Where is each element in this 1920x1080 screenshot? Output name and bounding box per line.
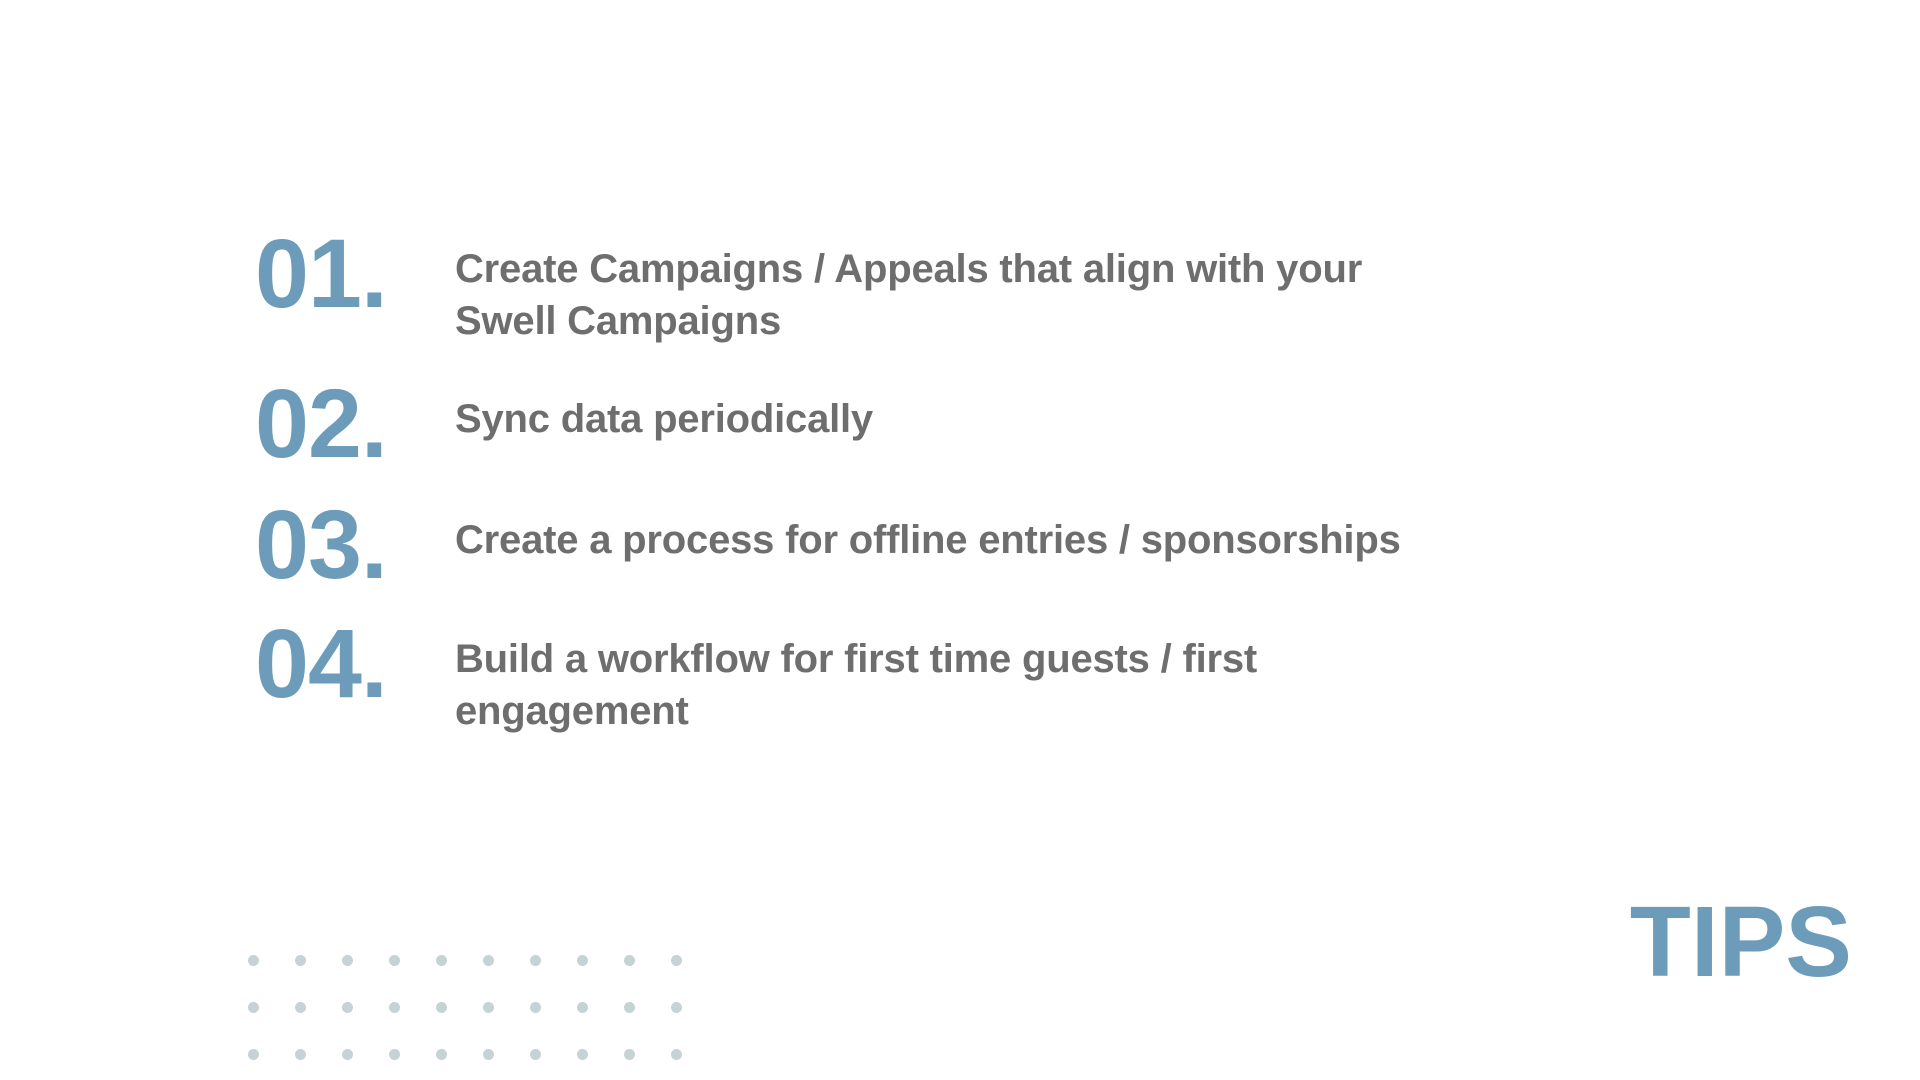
tip-text-04: Build a workflow for first time guests /… [455,615,1465,737]
dot-grid-dot [624,1049,635,1060]
tip-number-02: 02. [255,375,455,472]
dot-grid-dot [295,1002,306,1013]
dot-grid-dot [436,955,447,966]
dot-grid-dot [342,1049,353,1060]
footer-tips-label: TIPS [1630,892,1852,992]
list-item: 02. Sync data periodically [255,375,1705,472]
dot-grid-dot [389,955,400,966]
dot-grid-dot [671,1002,682,1013]
dot-grid-dot [342,955,353,966]
dot-grid-dot [530,1002,541,1013]
dot-grid-dot [483,1049,494,1060]
tip-text-02: Sync data periodically [455,375,1635,445]
dot-grid-dot [436,1002,447,1013]
tip-text-03: Create a process for offline entries / s… [455,496,1635,566]
dot-grid-dot [577,1049,588,1060]
tip-number-03: 03. [255,496,455,593]
tips-list: 01. Create Campaigns / Appeals that alig… [255,225,1705,737]
dot-grid-dot [436,1049,447,1060]
dot-grid-dot [624,955,635,966]
list-item: 04. Build a workflow for first time gues… [255,615,1705,737]
dot-grid-dot [624,1002,635,1013]
dot-grid-decoration [248,955,718,1080]
dot-grid-dot [671,1049,682,1060]
dot-grid-dot [295,1049,306,1060]
dot-grid-dot [530,955,541,966]
tip-number-01: 01. [255,225,455,322]
dot-grid-dot [248,1049,259,1060]
dot-grid-dot [389,1049,400,1060]
dot-grid-dot [248,1002,259,1013]
dot-grid-dot [483,955,494,966]
dot-grid-dot [389,1002,400,1013]
dot-grid-dot [248,955,259,966]
dot-grid-dot [483,1002,494,1013]
list-item: 03. Create a process for offline entries… [255,496,1705,593]
tip-number-04: 04. [255,615,455,712]
tips-slide: 01. Create Campaigns / Appeals that alig… [0,0,1920,1080]
dot-grid-dot [530,1049,541,1060]
tip-text-01: Create Campaigns / Appeals that align wi… [455,225,1465,347]
dot-grid-dot [671,955,682,966]
list-item: 01. Create Campaigns / Appeals that alig… [255,225,1705,347]
dot-grid-dot [295,955,306,966]
dot-grid-dot [342,1002,353,1013]
dot-grid-dot [577,1002,588,1013]
dot-grid-dot [577,955,588,966]
